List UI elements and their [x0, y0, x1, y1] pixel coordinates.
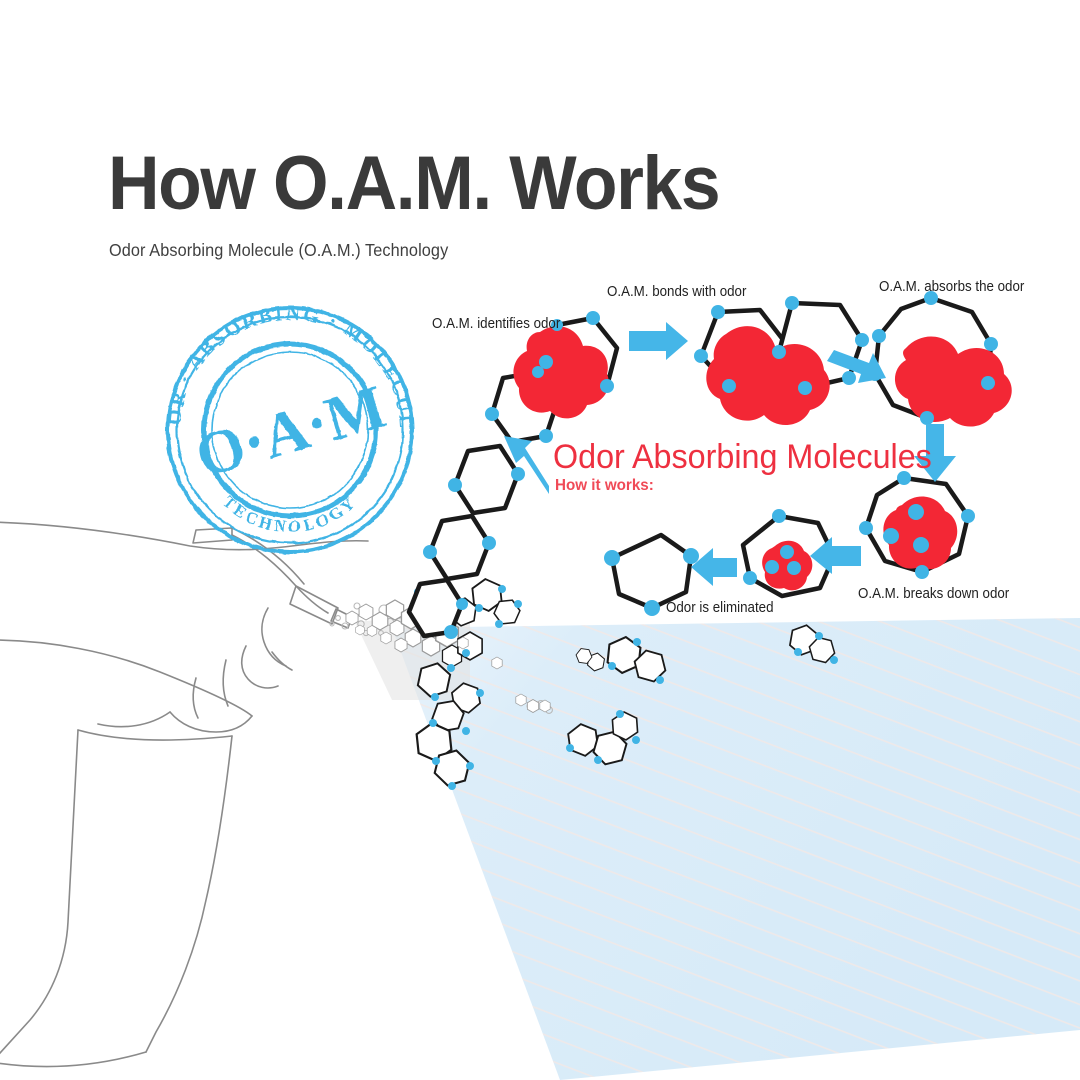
- step-3-label: O.A.M. absorbs the odor: [879, 279, 1024, 295]
- center-callout-subtitle: How it works:: [555, 477, 654, 495]
- arrow-step1-to-step2: [629, 322, 688, 360]
- step-4-label: O.A.M. breaks down odor: [858, 586, 1009, 602]
- step-6-molecule: [612, 535, 691, 608]
- step-5-label: Odor is eliminated: [666, 600, 774, 616]
- step-1-label: O.A.M. identifies odor: [432, 316, 560, 332]
- process-cycle-layer: [0, 0, 1080, 1080]
- infographic-canvas: How O.A.M. Works Odor Absorbing Molecule…: [0, 0, 1080, 1080]
- center-callout-title: Odor Absorbing Molecules: [553, 438, 932, 477]
- step-2-label: O.A.M. bonds with odor: [607, 284, 746, 300]
